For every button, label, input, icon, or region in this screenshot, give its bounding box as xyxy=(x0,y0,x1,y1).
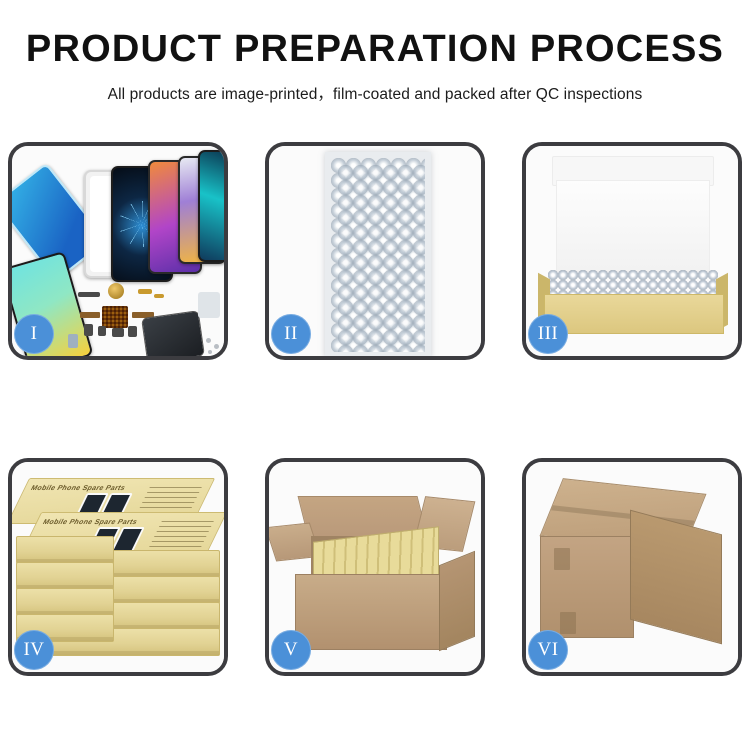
box-stack-layer-left-3 xyxy=(16,588,114,616)
carton-side-face-icon xyxy=(439,551,475,652)
part-sim-tray-icon xyxy=(128,326,137,337)
part-flex-cable-icon xyxy=(80,312,100,318)
step-badge-6: VI xyxy=(528,630,568,670)
sealed-carton-side-face-icon xyxy=(630,510,722,645)
box-spec-lines-2-icon xyxy=(148,521,214,549)
part-battery-connector-icon xyxy=(78,292,100,297)
box-stack-layer-left-1 xyxy=(16,536,114,564)
step-badge-2: II xyxy=(271,314,311,354)
step-badge-4: IV xyxy=(14,630,54,670)
box-label-line-1: Mobile Phone Spare Parts xyxy=(29,485,126,492)
part-tool-kit-icon xyxy=(198,292,220,318)
page-title: PRODUCT PREPARATION PROCESS xyxy=(0,30,750,70)
step-panel-phone-parts: I xyxy=(8,142,228,360)
sealed-carton-tab-top-icon xyxy=(554,548,570,570)
box-stack-layer-left-2 xyxy=(16,562,114,590)
step-badge-3: III xyxy=(528,314,568,354)
step-panel-inner-box: III xyxy=(522,142,742,360)
step-panel-boxed-stack: Mobile Phone Spare Parts Mobile Phone Sp… xyxy=(8,458,228,676)
part-gold-contact-icon xyxy=(154,294,164,298)
step-panel-open-carton: V xyxy=(265,458,485,676)
step-panel-bubble-wrap: II xyxy=(265,142,485,360)
part-back-housing-icon xyxy=(141,310,205,360)
step-badge-5: V xyxy=(271,630,311,670)
part-button-set-icon xyxy=(68,334,78,348)
bubble-wrap-pouch-icon xyxy=(325,152,431,358)
foam-sheet-icon xyxy=(556,180,710,272)
phone-teal-swirl-icon xyxy=(198,150,228,262)
part-screw-2-icon xyxy=(214,344,219,349)
part-copper-coil-icon xyxy=(108,283,124,299)
packed-bubble-items-icon xyxy=(548,270,718,296)
bubble-pattern-overlay-icon xyxy=(338,165,425,352)
page-subtitle: All products are image-printed，film-coat… xyxy=(0,82,750,104)
box-front-wall-icon xyxy=(544,294,724,334)
process-step-grid: I II III Mobile Phone Spare Parts xyxy=(8,142,742,676)
part-screw-1-icon xyxy=(206,338,211,343)
step-badge-1: I xyxy=(14,314,54,354)
page-header: PRODUCT PREPARATION PROCESS All products… xyxy=(0,0,750,104)
part-speaker-icon xyxy=(98,326,106,336)
box-label-line-2: Mobile Phone Spare Parts xyxy=(41,519,138,526)
box-spec-lines-1-icon xyxy=(136,487,202,515)
part-vibrator-icon xyxy=(112,328,124,337)
part-gold-flex-icon xyxy=(138,289,152,294)
part-chip-array-icon xyxy=(102,306,128,328)
step-panel-sealed-carton: VI xyxy=(522,458,742,676)
carton-front-face-icon xyxy=(295,574,447,650)
part-screw-3-icon xyxy=(208,350,212,354)
part-camera-module-icon xyxy=(84,324,93,336)
sealed-carton-tab-bottom-icon xyxy=(560,612,576,634)
